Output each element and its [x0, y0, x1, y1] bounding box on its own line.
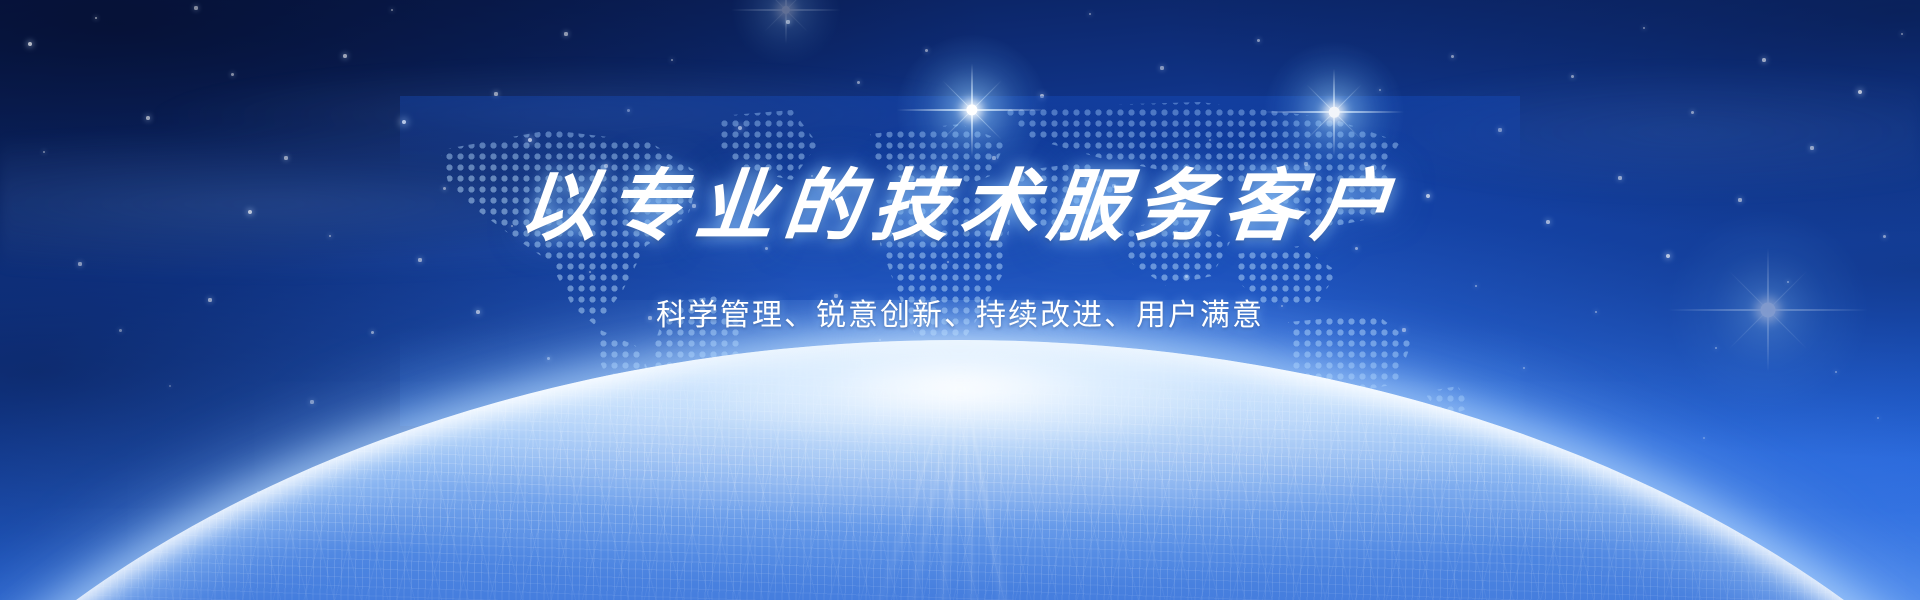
star-dot: [1571, 75, 1574, 78]
star-dot: [1810, 146, 1813, 149]
star-dot: [1160, 66, 1163, 69]
star-dot: [284, 156, 287, 159]
atmosphere-rim: [0, 340, 1920, 600]
star-dot: [671, 59, 674, 62]
star-dot: [1379, 89, 1382, 92]
star-dot: [146, 116, 150, 120]
star-dot: [231, 73, 234, 76]
star-dot: [1643, 27, 1646, 30]
star-dot: [95, 17, 98, 20]
star-dot: [786, 20, 789, 23]
star-dot: [1762, 58, 1766, 62]
star-dot: [1858, 90, 1862, 94]
star-dot: [925, 49, 928, 52]
star-dot: [1451, 55, 1454, 58]
star-dot: [343, 54, 347, 58]
banner-subheadline: 科学管理、锐意创新、持续改进、用户满意: [0, 296, 1920, 337]
star-dot: [564, 32, 567, 35]
star-dot: [1691, 111, 1694, 114]
star-dot: [857, 81, 860, 84]
star-dot: [1089, 13, 1092, 16]
star-dot: [43, 151, 46, 154]
banner-headline: 以专业的技术服务客户: [0, 168, 1920, 246]
star-dot: [391, 9, 394, 12]
earth-horizon-layer: [0, 300, 1920, 600]
star-dot: [78, 262, 81, 265]
star-dot: [1901, 33, 1904, 36]
star-dot: [1787, 281, 1790, 284]
star-dot: [1257, 39, 1260, 42]
star-dot: [1666, 254, 1670, 258]
star-dot: [194, 6, 197, 9]
star-dot: [28, 42, 32, 46]
hero-banner: 以专业的技术服务客户 科学管理、锐意创新、持续改进、用户满意: [0, 0, 1920, 600]
